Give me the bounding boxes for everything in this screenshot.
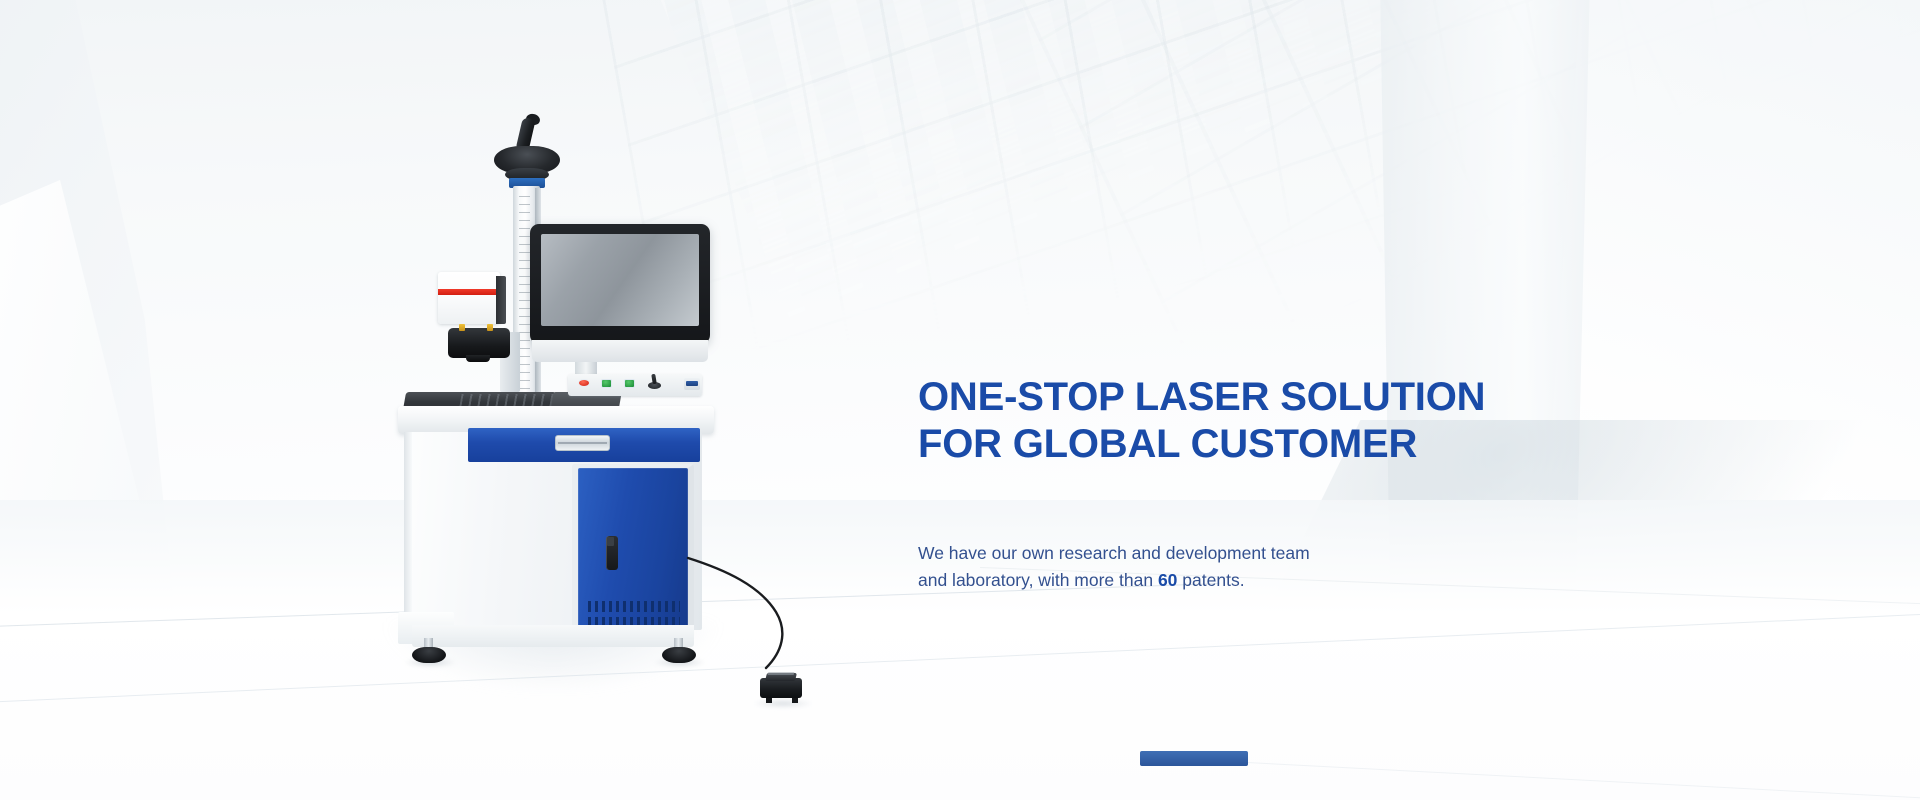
control-panel-faceplate <box>1140 751 1248 766</box>
cabinet-left-edge <box>404 432 412 630</box>
pedal-shadow <box>752 699 814 708</box>
monitor-screen <box>541 234 699 326</box>
headline-line-1: ONE-STOP LASER SOLUTION <box>918 375 1485 419</box>
ventilation-slots-row-1 <box>588 601 680 612</box>
hero-copy-block: ONE-STOP LASER SOLUTION FOR GLOBAL CUSTO… <box>918 328 1558 595</box>
start-button[interactable] <box>601 379 612 388</box>
reset-button[interactable] <box>624 379 635 388</box>
laser-source-housing <box>438 272 500 324</box>
subcopy-line-1: We have our own research and development… <box>918 543 1310 563</box>
cabinet-door-latch <box>607 537 614 546</box>
pedal-cable <box>686 556 816 676</box>
galvo-connector <box>459 324 465 331</box>
foot-pedal-edge <box>768 672 795 675</box>
laser-source-side-panel <box>496 276 506 324</box>
subcopy-line-2a: and laboratory, with more than <box>918 570 1158 590</box>
drawer-handle-groove <box>558 442 607 444</box>
galvo-focus-lens <box>466 355 490 362</box>
cabinet-plinth <box>412 625 694 647</box>
galvo-scan-head <box>448 328 510 358</box>
emergency-stop-button[interactable] <box>578 379 590 387</box>
hero-subcopy: We have our own research and development… <box>918 540 1558 595</box>
monitor-base <box>532 340 708 362</box>
leveling-foot <box>412 647 446 663</box>
foot-pedal[interactable] <box>760 678 802 698</box>
patent-count: 60 <box>1158 570 1177 590</box>
usb-port[interactable] <box>686 381 698 386</box>
hero-banner-stage: ONE-STOP LASER SOLUTION FOR GLOBAL CUSTO… <box>0 0 1920 800</box>
laser-source-red-stripe <box>438 289 500 295</box>
headline-line-2: FOR GLOBAL CUSTOMER <box>918 421 1558 467</box>
galvo-connector <box>487 324 493 331</box>
subcopy-line-2b: patents. <box>1177 570 1244 590</box>
leveling-foot <box>662 647 696 663</box>
page-title: ONE-STOP LASER SOLUTION FOR GLOBAL CUSTO… <box>918 328 1558 514</box>
